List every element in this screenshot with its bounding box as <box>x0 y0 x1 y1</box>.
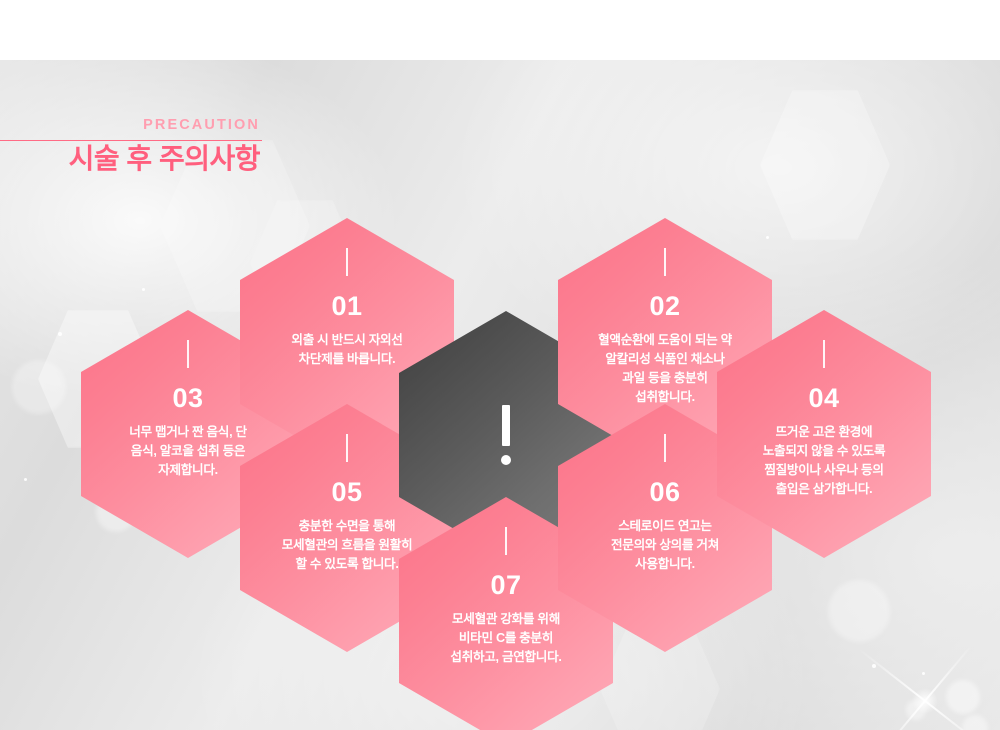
hex-tick-mark <box>823 340 825 368</box>
hex-body-text: 모세혈관 강화를 위해 비타민 C를 충분히 섭취하고, 금연합니다. <box>430 610 581 667</box>
infographic-slide: PRECAUTION 시술 후 주의사항 03 너무 맵거나 짠 음식, 단 음… <box>0 0 1000 730</box>
top-white-band <box>0 0 1000 60</box>
hex-number: 04 <box>808 385 839 412</box>
hex-body-text: 외출 시 반드시 자외선 차단제를 바릅니다. <box>271 331 422 369</box>
hex-number: 03 <box>172 385 203 412</box>
hex-tick-mark <box>346 434 348 462</box>
hex-tick-mark <box>664 248 666 276</box>
hex-tick-mark <box>187 340 189 368</box>
hex-tick-mark <box>505 527 507 555</box>
hex-tick-mark <box>664 434 666 462</box>
hex-number: 07 <box>490 572 521 599</box>
hex-body-text: 스테로이드 연고는 전문의와 상의를 거쳐 사용합니다. <box>591 517 739 574</box>
hex-number: 01 <box>331 293 362 320</box>
hex-number: 02 <box>649 293 680 320</box>
page-title: 시술 후 주의사항 <box>0 143 262 175</box>
heading-eyebrow: PRECAUTION <box>0 118 262 133</box>
hex-body-text: 뜨거운 고온 환경에 노출되지 않을 수 있도록 찜질방이나 사우나 등의 출입… <box>743 423 905 500</box>
honeycomb-grid: 03 너무 맵거나 짠 음식, 단 음식, 알코올 섭취 등은 자제합니다. 0… <box>0 0 1000 730</box>
hex-number: 05 <box>331 479 362 506</box>
hex-number: 06 <box>649 479 680 506</box>
hex-tick-mark <box>346 248 348 276</box>
page-heading: PRECAUTION 시술 후 주의사항 <box>0 118 262 175</box>
